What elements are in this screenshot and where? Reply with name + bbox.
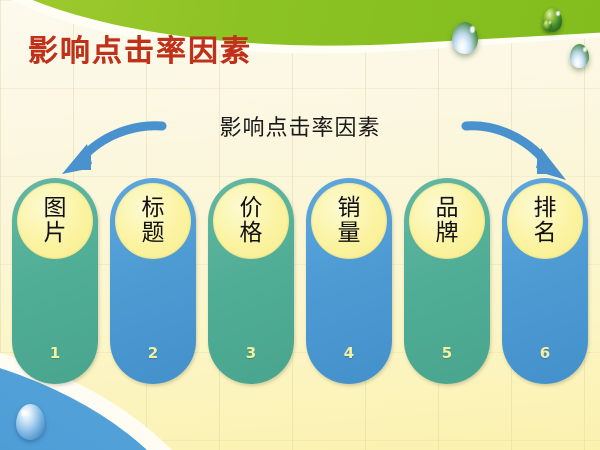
arrow-left-icon [44, 112, 174, 184]
slide-canvas: 影响点击率因素 影响点击率因素 图片 1 标题 2 价格 3 [0, 0, 600, 450]
factor-circle-2: 标题 [115, 183, 191, 259]
factor-capsule-1[interactable]: 图片 1 [12, 178, 98, 384]
slide-title: 影响点击率因素 [28, 26, 252, 70]
factor-label-6: 排名 [527, 196, 563, 246]
factor-label-3: 价格 [233, 196, 269, 246]
water-droplet-blue-icon [16, 404, 45, 440]
factor-label-1: 图片 [37, 196, 73, 246]
factor-circle-6: 排名 [507, 183, 583, 259]
factor-capsule-2[interactable]: 标题 2 [110, 178, 196, 384]
factor-capsule-list: 图片 1 标题 2 价格 3 销量 4 品牌 5 [12, 178, 588, 384]
factor-label-5: 品牌 [429, 196, 465, 246]
factor-number-5: 5 [404, 344, 490, 362]
factor-label-2: 标题 [135, 196, 171, 246]
factor-number-2: 2 [110, 344, 196, 362]
factor-number-3: 3 [208, 344, 294, 362]
factor-number-6: 6 [502, 344, 588, 362]
water-droplet-green-edge-icon [570, 44, 589, 68]
water-droplet-green-tiny-icon [543, 20, 552, 31]
factor-capsule-4[interactable]: 销量 4 [306, 178, 392, 384]
factor-number-4: 4 [306, 344, 392, 362]
water-droplet-green-large-icon [452, 22, 478, 54]
arrow-right-icon [452, 112, 582, 190]
factor-circle-1: 图片 [17, 183, 93, 259]
factor-capsule-6[interactable]: 排名 6 [502, 178, 588, 384]
factor-circle-3: 价格 [213, 183, 289, 259]
factor-number-1: 1 [12, 344, 98, 362]
factor-label-4: 销量 [331, 196, 367, 246]
factor-capsule-3[interactable]: 价格 3 [208, 178, 294, 384]
factor-circle-4: 销量 [311, 183, 387, 259]
factor-capsule-5[interactable]: 品牌 5 [404, 178, 490, 384]
factor-circle-5: 品牌 [409, 183, 485, 259]
